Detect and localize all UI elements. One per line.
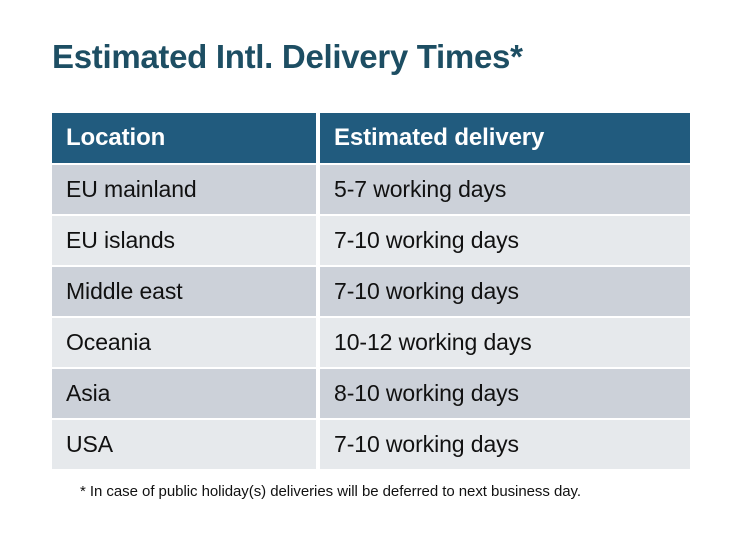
cell-estimated-delivery: 7-10 working days: [320, 216, 690, 265]
cell-location: Middle east: [52, 267, 316, 316]
footnote-text: * In case of public holiday(s) deliverie…: [80, 481, 581, 503]
delivery-times-table: Location Estimated delivery EU mainland …: [52, 113, 690, 469]
cell-estimated-delivery: 5-7 working days: [320, 165, 690, 214]
delivery-times-card: Estimated Intl. Delivery Times* Location…: [0, 0, 745, 536]
table-row: EU mainland 5-7 working days: [52, 165, 690, 214]
table-row: Asia 8-10 working days: [52, 369, 690, 418]
cell-location: EU islands: [52, 216, 316, 265]
table-row: Oceania 10-12 working days: [52, 318, 690, 367]
page-title: Estimated Intl. Delivery Times*: [52, 36, 523, 78]
table-row: USA 7-10 working days: [52, 420, 690, 469]
cell-estimated-delivery: 7-10 working days: [320, 267, 690, 316]
cell-estimated-delivery: 7-10 working days: [320, 420, 690, 469]
table-header-row: Location Estimated delivery: [52, 113, 690, 163]
column-header-estimated-delivery: Estimated delivery: [320, 113, 690, 163]
cell-location: EU mainland: [52, 165, 316, 214]
cell-location: USA: [52, 420, 316, 469]
column-header-location: Location: [52, 113, 316, 163]
cell-location: Oceania: [52, 318, 316, 367]
cell-estimated-delivery: 8-10 working days: [320, 369, 690, 418]
table-row: Middle east 7-10 working days: [52, 267, 690, 316]
table-row: EU islands 7-10 working days: [52, 216, 690, 265]
cell-estimated-delivery: 10-12 working days: [320, 318, 690, 367]
cell-location: Asia: [52, 369, 316, 418]
